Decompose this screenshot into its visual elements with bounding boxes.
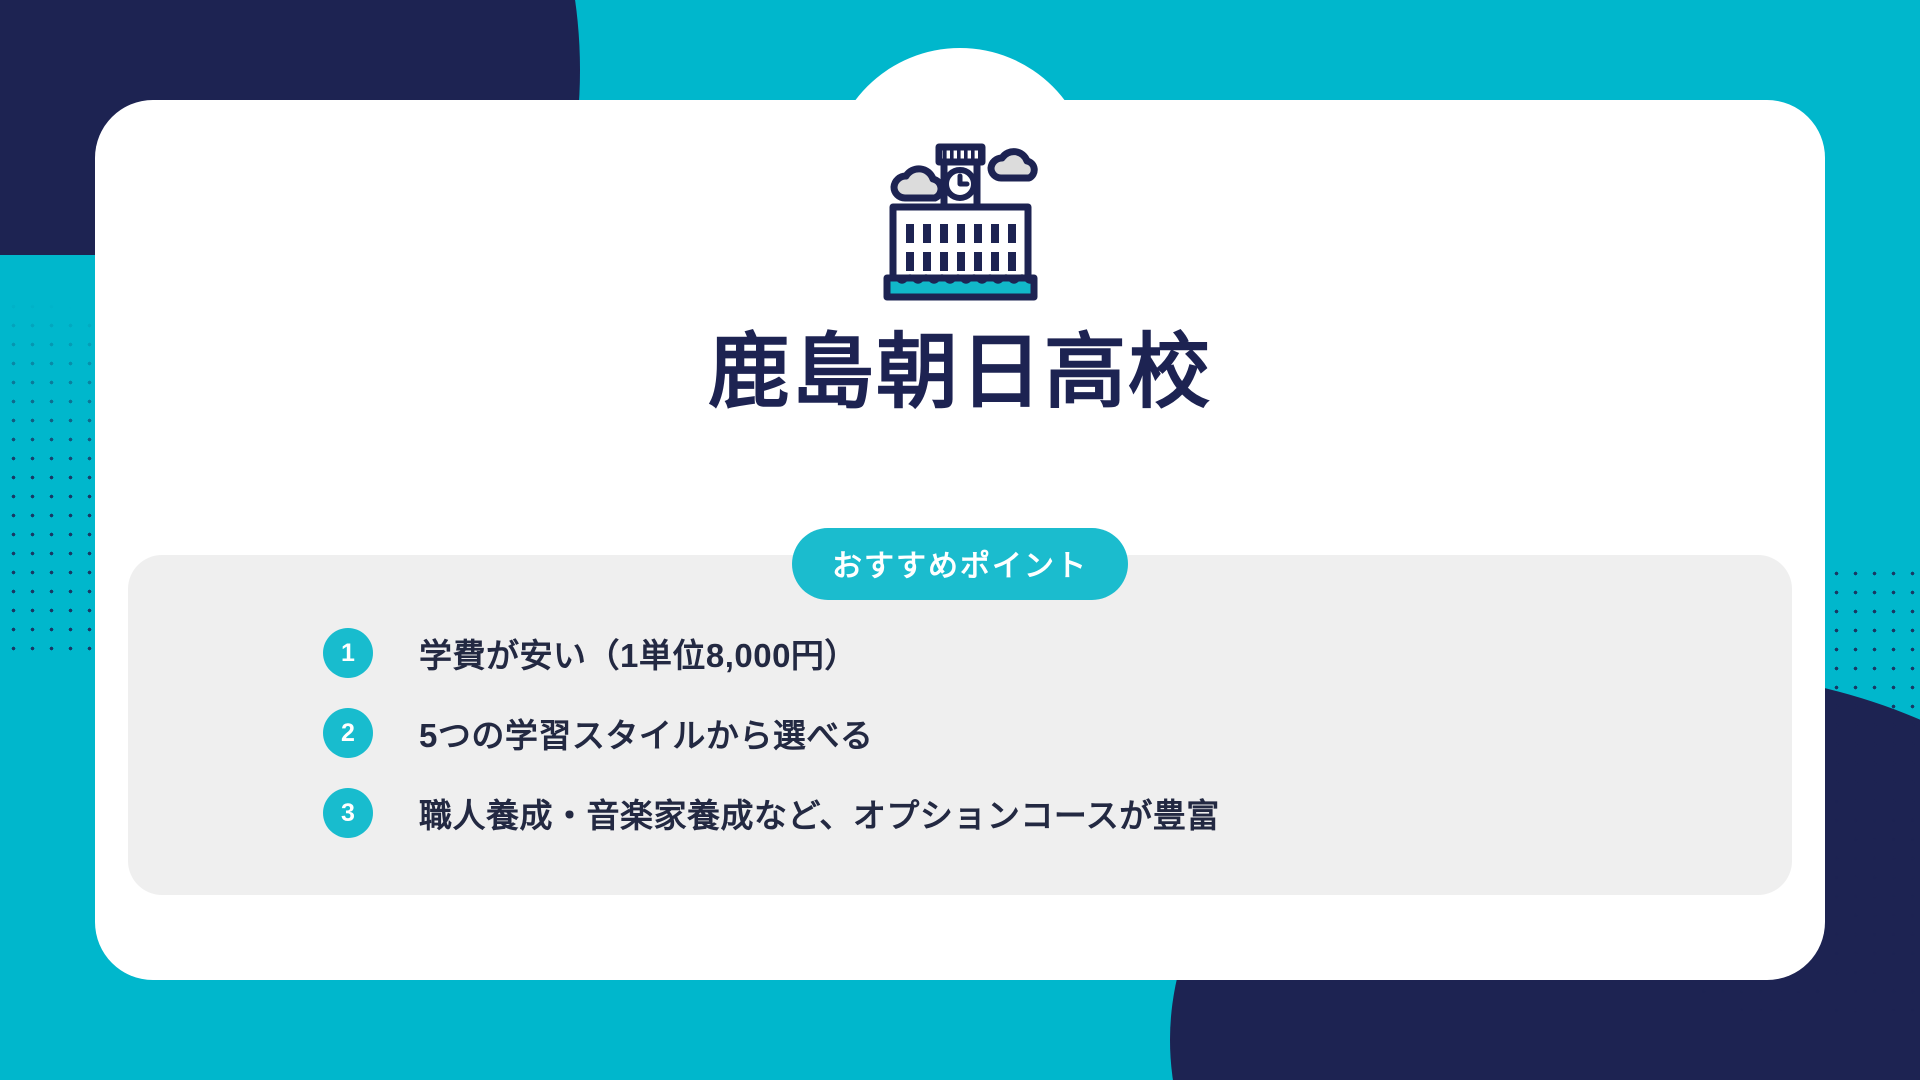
slide-root: 鹿島朝日高校 おすすめポイント 1 学費が安い（1単位8,000円） 2 5つの…	[0, 0, 1920, 1080]
page-title: 鹿島朝日高校	[95, 332, 1825, 414]
list-item: 2 5つの学習スタイルから選べる	[323, 693, 1705, 773]
cloud-left-icon	[894, 169, 941, 198]
point-text: 5つの学習スタイルから選べる	[419, 709, 873, 757]
list-item: 3 職人養成・音楽家養成など、オプションコースが豊富	[323, 773, 1705, 853]
point-text: 学費が安い（1単位8,000円）	[419, 629, 858, 677]
point-number-badge: 1	[323, 628, 373, 678]
points-list: 1 学費が安い（1単位8,000円） 2 5つの学習スタイルから選べる 3 職人…	[323, 613, 1705, 853]
recommended-points-badge: おすすめポイント	[792, 528, 1128, 600]
content-card: 鹿島朝日高校 おすすめポイント 1 学費が安い（1単位8,000円） 2 5つの…	[95, 100, 1825, 980]
point-text: 職人養成・音楽家養成など、オプションコースが豊富	[419, 789, 1220, 837]
point-number-badge: 2	[323, 708, 373, 758]
cloud-right-icon	[991, 152, 1034, 178]
school-building-icon	[860, 128, 1060, 308]
point-number-badge: 3	[323, 788, 373, 838]
clock-icon	[946, 170, 974, 198]
list-item: 1 学費が安い（1単位8,000円）	[323, 613, 1705, 693]
